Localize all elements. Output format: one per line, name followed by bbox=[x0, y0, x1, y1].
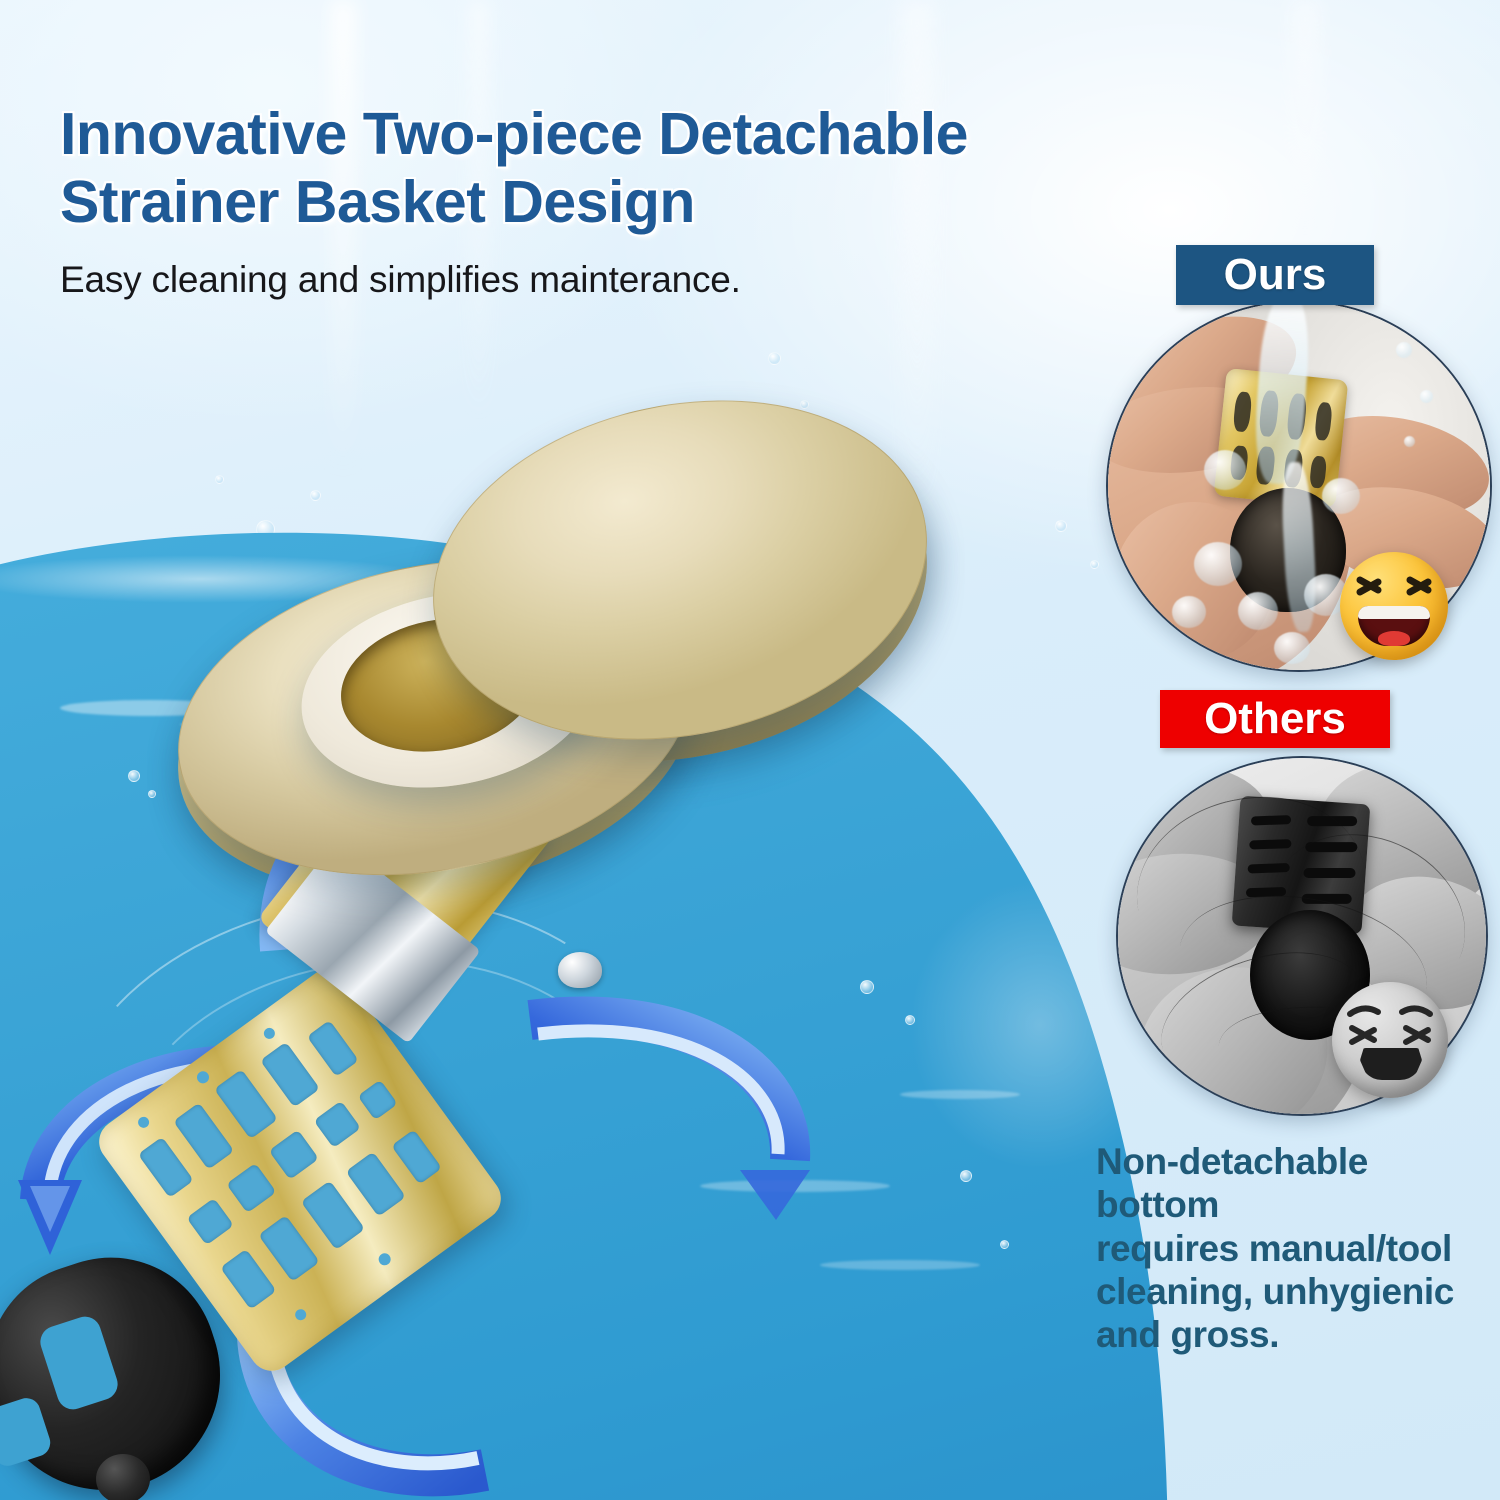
page-subtitle: Easy cleaning and simplifies mainterance… bbox=[60, 259, 1200, 301]
page-title: Innovative Two-piece Detachable Strainer… bbox=[60, 100, 1200, 237]
water-splash bbox=[1238, 592, 1278, 630]
tired-face-features bbox=[1332, 982, 1448, 1098]
basket-slot bbox=[226, 1163, 276, 1213]
basket-hole bbox=[195, 1069, 212, 1086]
background-streak bbox=[1290, 0, 1320, 240]
basket-hole bbox=[376, 1251, 393, 1268]
water-droplet-spray bbox=[1420, 390, 1433, 403]
basket-slot bbox=[258, 1215, 320, 1282]
water-splash bbox=[1194, 542, 1242, 586]
basket-slot bbox=[391, 1129, 442, 1184]
others-badge: Others bbox=[1160, 690, 1390, 748]
basket-slot bbox=[269, 1130, 319, 1180]
headline-block: Innovative Two-piece Detachable Strainer… bbox=[60, 100, 1200, 301]
basket-slot bbox=[220, 1249, 276, 1310]
water-splash bbox=[1204, 450, 1246, 490]
laughing-emoji bbox=[1340, 552, 1448, 660]
strainer-slot bbox=[1314, 402, 1333, 441]
teeth bbox=[1358, 606, 1430, 619]
strainer-slot bbox=[1232, 391, 1252, 432]
basket-slot bbox=[307, 1020, 359, 1077]
ours-badge-label: Ours bbox=[1224, 250, 1327, 300]
water-splash bbox=[1172, 596, 1206, 628]
basket-slot bbox=[214, 1069, 278, 1139]
water-droplet-spray bbox=[1396, 342, 1412, 358]
tired-face-emoji bbox=[1332, 982, 1448, 1098]
basket-slot bbox=[314, 1101, 361, 1148]
marketing-infographic: Innovative Two-piece Detachable Strainer… bbox=[0, 0, 1500, 1500]
strainer-slot bbox=[1309, 455, 1327, 488]
basket-hole bbox=[262, 1026, 277, 1041]
water-splash bbox=[1322, 478, 1360, 514]
water-splash bbox=[1274, 632, 1310, 664]
basket-slot bbox=[346, 1152, 406, 1217]
ours-badge: Ours bbox=[1176, 245, 1374, 305]
tired-mouth bbox=[1360, 1048, 1422, 1080]
others-badge-label: Others bbox=[1204, 694, 1346, 744]
basket-slot bbox=[260, 1042, 320, 1108]
gasket-knob bbox=[96, 1454, 150, 1500]
basket-slot bbox=[358, 1080, 398, 1121]
others-caption: Non-detachable bottom requires manual/to… bbox=[1096, 1140, 1496, 1356]
basket-hole bbox=[136, 1115, 151, 1130]
release-pin bbox=[558, 952, 602, 988]
basket-slot bbox=[301, 1180, 365, 1250]
water-droplet-spray bbox=[1404, 436, 1415, 447]
tongue bbox=[1378, 631, 1410, 646]
basket-slot bbox=[173, 1102, 234, 1169]
basket-slot bbox=[138, 1137, 194, 1198]
rotation-arrow-right bbox=[490, 990, 820, 1220]
basket-hole bbox=[293, 1307, 308, 1322]
basket-slot bbox=[186, 1198, 233, 1245]
product-exploded-view bbox=[0, 380, 1110, 1500]
water-droplet bbox=[768, 352, 781, 365]
